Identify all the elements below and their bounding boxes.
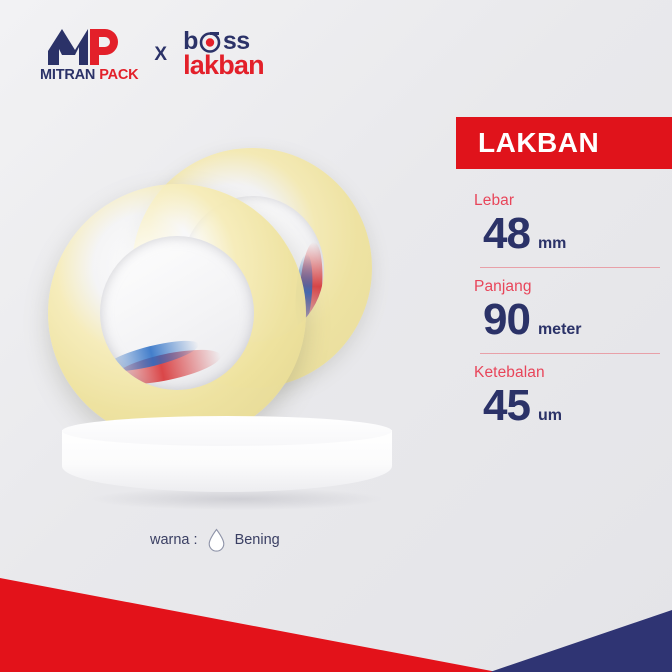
spec-value-row: 90 meter [483, 297, 664, 343]
spec-item-lebar: Lebar 48 mm [474, 192, 664, 257]
mitran-pack-logo: MITRAN PACK [40, 25, 138, 83]
boss-wordmark-bottom: lakban [183, 53, 264, 79]
spec-divider [480, 353, 660, 354]
product-photo [0, 96, 440, 566]
spec-number: 90 [483, 297, 530, 343]
banner-title: LAKBAN [478, 127, 599, 159]
lakban-banner: LAKBAN [456, 117, 672, 169]
product-podium [62, 416, 392, 512]
boss-wordmark-top: b ss [183, 30, 264, 54]
product-card-canvas: MITRAN PACK X b ss lakban [0, 0, 672, 672]
wedge-red [0, 578, 497, 672]
mitran-pack-wordmark: MITRAN PACK [40, 68, 138, 83]
wedge-navy [490, 610, 672, 672]
spec-value-row: 48 mm [483, 211, 664, 257]
boss-lakban-logo: b ss lakban [183, 30, 264, 78]
spec-list: Lebar 48 mm Panjang 90 meter Ketebalan 4… [474, 192, 664, 428]
brand-word-pack: PACK [99, 68, 138, 83]
spec-number: 48 [483, 211, 530, 257]
color-row-value: Bening [235, 532, 280, 548]
spec-label: Panjang [474, 278, 664, 296]
spec-item-ketebalan: Ketebalan 45 um [474, 364, 664, 429]
boss-tape-roll-icon [199, 30, 222, 53]
mp-monogram-icon [46, 25, 132, 65]
color-row: warna : Bening [150, 528, 280, 552]
color-row-label: warna : [150, 532, 198, 548]
brand-header: MITRAN PACK X b ss lakban [40, 18, 290, 90]
boss-letter-b: b [183, 30, 198, 54]
tape-roll-front-core [100, 236, 254, 390]
spec-unit: meter [538, 321, 582, 339]
brand-word-mitran: MITRAN [40, 68, 95, 83]
water-drop-icon [207, 528, 226, 552]
podium-top-surface [62, 416, 392, 446]
boss-letters-ss: ss [223, 30, 250, 54]
spec-label: Ketebalan [474, 364, 664, 382]
spec-unit: mm [538, 235, 566, 253]
spec-item-panjang: Panjang 90 meter [474, 278, 664, 343]
spec-number: 45 [483, 383, 530, 429]
spec-label: Lebar [474, 192, 664, 210]
spec-value-row: 45 um [483, 383, 664, 429]
spec-unit: um [538, 407, 562, 425]
spec-divider [480, 267, 660, 268]
bottom-wedge-decoration [0, 560, 672, 672]
brand-separator-x: X [152, 44, 169, 66]
